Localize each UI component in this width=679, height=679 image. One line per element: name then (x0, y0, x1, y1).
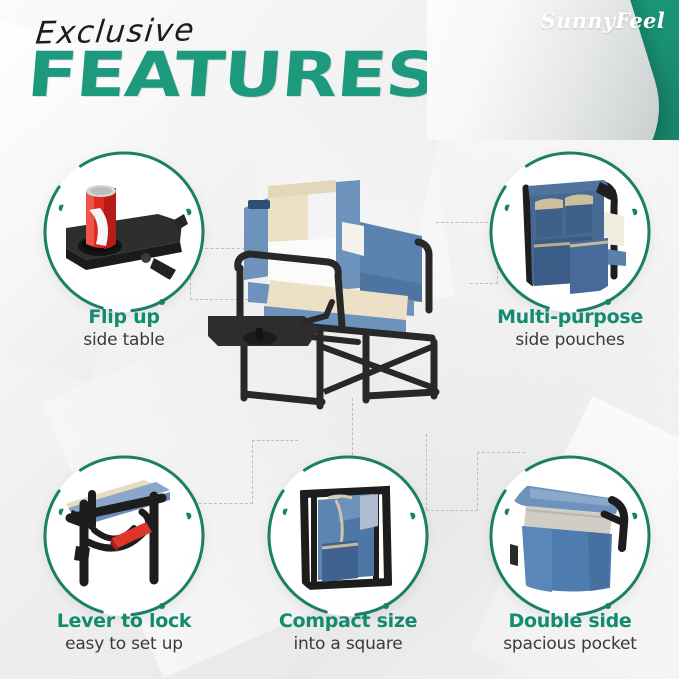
connector-lever-c (252, 440, 254, 504)
feature-card-multi-purpose-side-pouches[interactable] (490, 152, 650, 312)
feature-title: Double side (455, 611, 679, 633)
feature-subtitle: spacious pocket (455, 634, 679, 654)
feature-card-flip-up-side-table[interactable] (44, 152, 204, 312)
feature-subtitle: side pouches (455, 330, 679, 350)
feature-subtitle: easy to set up (9, 634, 239, 654)
armrest-pocket-photo (504, 470, 636, 602)
page-title: FEATURES (25, 44, 440, 106)
feature-title: Flip up (9, 307, 239, 329)
feature-card-lever-to-lock[interactable] (44, 456, 204, 616)
feature-caption-multi-purpose-side-pouches: Multi-purpose side pouches (455, 307, 679, 350)
brand-logo: SunnyFeel (541, 8, 665, 33)
feature-caption-double-side-pocket: Double side spacious pocket (455, 611, 679, 654)
feature-card-double-side-pocket[interactable] (490, 456, 650, 616)
feature-caption-flip-up-side-table: Flip up side table (9, 307, 239, 350)
feature-card-compact-size[interactable] (268, 456, 428, 616)
feature-title: Multi-purpose (455, 307, 679, 329)
feature-caption-compact-size: Compact size into a square (233, 611, 463, 654)
red-lever-photo (58, 470, 190, 602)
connector-doubleside-c (477, 452, 479, 511)
corner-curl: SunnyFeel (427, 0, 679, 140)
connector-lever-d (252, 440, 298, 442)
feature-title: Compact size (233, 611, 463, 633)
infographic-canvas: Exclusive FEATURES SunnyFeel (0, 0, 679, 679)
feature-subtitle: side table (9, 330, 239, 350)
feature-subtitle: into a square (233, 634, 463, 654)
feature-caption-lever-to-lock: Lever to lock easy to set up (9, 611, 239, 654)
feature-title: Lever to lock (9, 611, 239, 633)
side-table-with-can-photo (58, 166, 190, 298)
hero-product-image (208, 150, 473, 430)
folded-chair-photo (282, 470, 414, 602)
side-pouches-photo (504, 166, 636, 298)
